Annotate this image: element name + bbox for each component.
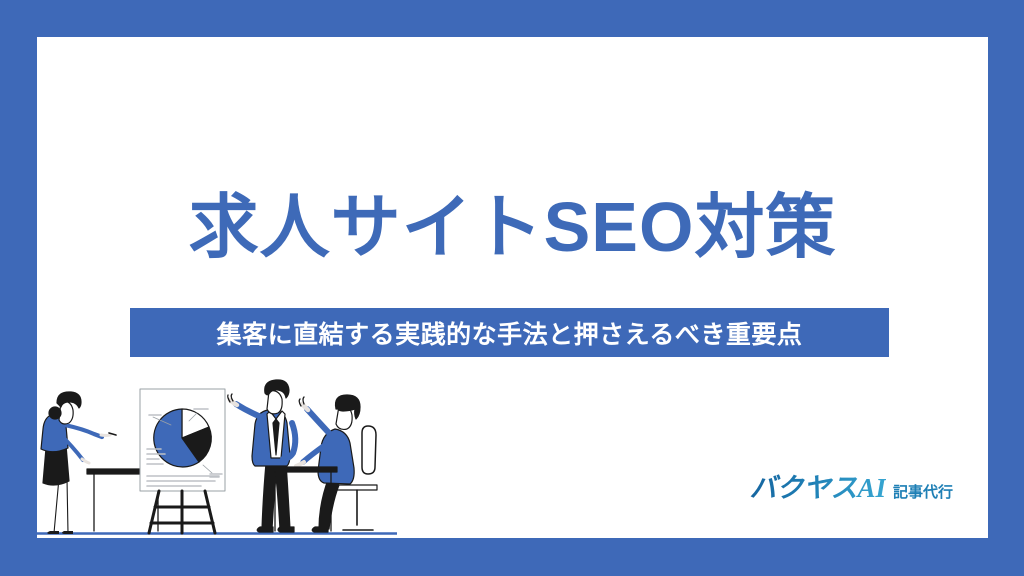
business-team-illustration [37, 373, 397, 538]
brand-logo: バクヤスAI 記事代行 [749, 466, 953, 505]
title-block: 求人サイトSEO対策 [37, 192, 988, 262]
figure-man-standing [228, 380, 296, 532]
slide-canvas: 求人サイトSEO対策 集客に直結する実践的な手法と押さえるべき重要点 バクヤスA… [37, 37, 988, 538]
brand-service-label: 記事代行 [893, 481, 953, 502]
brand-name: バクヤスAI [749, 466, 886, 505]
subtitle-text: 集客に直結する実践的な手法と押さえるべき重要点 [217, 315, 803, 351]
subtitle-banner: 集客に直結する実践的な手法と押さえるべき重要点 [130, 308, 889, 357]
illustration-svg [37, 373, 397, 538]
presentation-board [140, 389, 225, 533]
slide-root: 求人サイトSEO対策 集客に直結する実践的な手法と押さえるべき重要点 バクヤスA… [0, 0, 1024, 576]
pie-chart [154, 409, 212, 467]
page-title: 求人サイトSEO対策 [37, 192, 988, 262]
